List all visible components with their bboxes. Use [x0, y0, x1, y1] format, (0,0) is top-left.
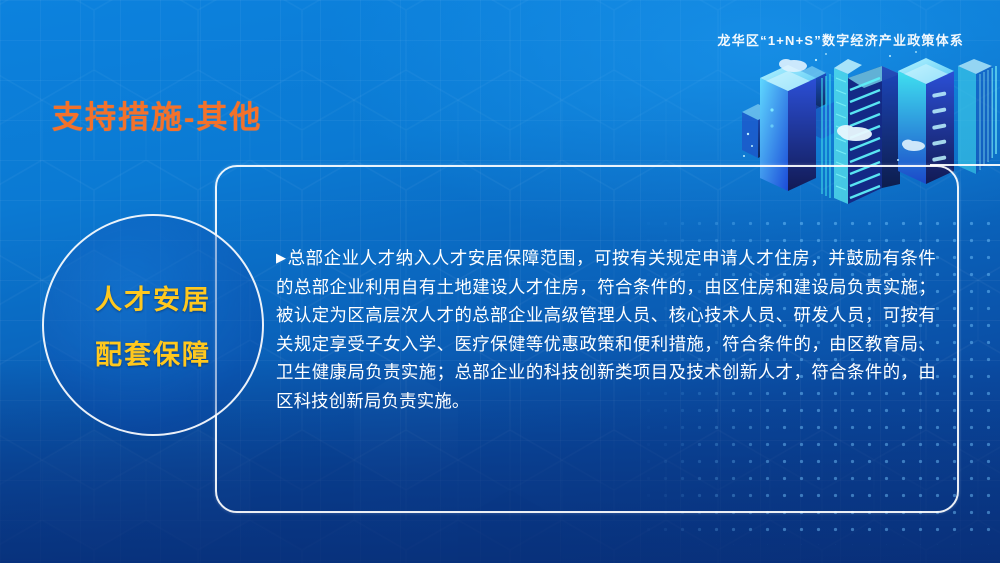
policy-paragraph-text: 总部企业人才纳入人才安居保障范围，可按有关规定申请人才住房，并鼓励有条件的总部企…: [276, 248, 936, 411]
content-body: ▶总部企业人才纳入人才安居保障范围，可按有关规定申请人才住房，并鼓励有条件的总部…: [276, 244, 936, 416]
policy-paragraph: ▶总部企业人才纳入人才安居保障范围，可按有关规定申请人才住房，并鼓励有条件的总部…: [276, 244, 936, 416]
badge-line-2: 配套保障: [95, 333, 211, 372]
triangle-bullet-icon: ▶: [276, 250, 287, 265]
page-title: 支持措施-其他: [52, 92, 262, 137]
frame-top-extension-line: [930, 164, 1000, 166]
badge-line-1: 人才安居: [95, 278, 211, 317]
slide-canvas: 龙华区“1+N+S”数字经济产业政策体系: [0, 0, 1000, 563]
topic-circle-badge: 人才安居 配套保障: [42, 214, 264, 436]
